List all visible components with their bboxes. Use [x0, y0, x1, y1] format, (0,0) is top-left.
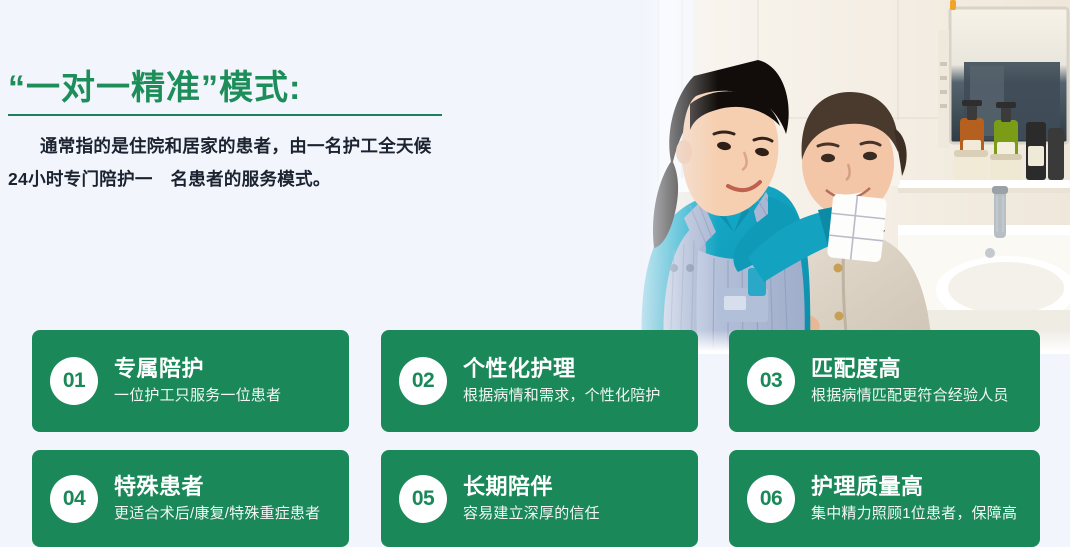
card-subtitle: 容易建立深厚的信任	[463, 503, 600, 525]
feature-card[interactable]: 01 专属陪护 一位护工只服务一位患者	[32, 330, 349, 432]
card-text-group: 专属陪护 一位护工只服务一位患者	[114, 355, 281, 407]
card-text-group: 特殊患者 更适合术后/康复/特殊重症患者	[114, 473, 320, 525]
card-subtitle: 更适合术后/康复/特殊重症患者	[114, 503, 320, 525]
card-subtitle: 根据病情和需求，个性化陪护	[463, 385, 661, 407]
card-number-badge: 02	[399, 357, 447, 405]
card-number-badge: 03	[747, 357, 795, 405]
intro-paragraph: 通常指的是住院和居家的患者，由一名护工全天候24小时专门陪护一 名患者的服务模式…	[8, 130, 448, 196]
card-subtitle: 根据病情匹配更符合经验人员	[811, 385, 1009, 407]
card-subtitle: 一位护工只服务一位患者	[114, 385, 281, 407]
caregiver-patient-photo	[598, 0, 1070, 353]
card-title: 特殊患者	[114, 473, 320, 500]
card-number-badge: 04	[50, 475, 98, 523]
promo-page: “一对一精准”模式: 通常指的是住院和居家的患者，由一名护工全天候24小时专门陪…	[0, 0, 1070, 547]
card-title: 护理质量高	[811, 473, 1017, 500]
feature-card[interactable]: 06 护理质量高 集中精力照顾1位患者，保障高	[729, 450, 1040, 547]
card-title: 长期陪伴	[463, 473, 600, 500]
feature-card[interactable]: 05 长期陪伴 容易建立深厚的信任	[381, 450, 698, 547]
card-title: 专属陪护	[114, 355, 281, 382]
card-number-badge: 05	[399, 475, 447, 523]
card-text-group: 个性化护理 根据病情和需求，个性化陪护	[463, 355, 661, 407]
feature-card[interactable]: 04 特殊患者 更适合术后/康复/特殊重症患者	[32, 450, 349, 547]
card-number-badge: 06	[747, 475, 795, 523]
page-title: “一对一精准”模式:	[8, 60, 301, 109]
feature-card[interactable]: 02 个性化护理 根据病情和需求，个性化陪护	[381, 330, 698, 432]
card-number-badge: 01	[50, 357, 98, 405]
feature-card[interactable]: 03 匹配度高 根据病情匹配更符合经验人员	[729, 330, 1040, 432]
card-title: 匹配度高	[811, 355, 1009, 382]
card-text-group: 匹配度高 根据病情匹配更符合经验人员	[811, 355, 1009, 407]
card-subtitle: 集中精力照顾1位患者，保障高	[811, 503, 1017, 525]
card-text-group: 长期陪伴 容易建立深厚的信任	[463, 473, 600, 525]
card-title: 个性化护理	[463, 355, 661, 382]
card-text-group: 护理质量高 集中精力照顾1位患者，保障高	[811, 473, 1017, 525]
title-divider	[8, 114, 442, 116]
